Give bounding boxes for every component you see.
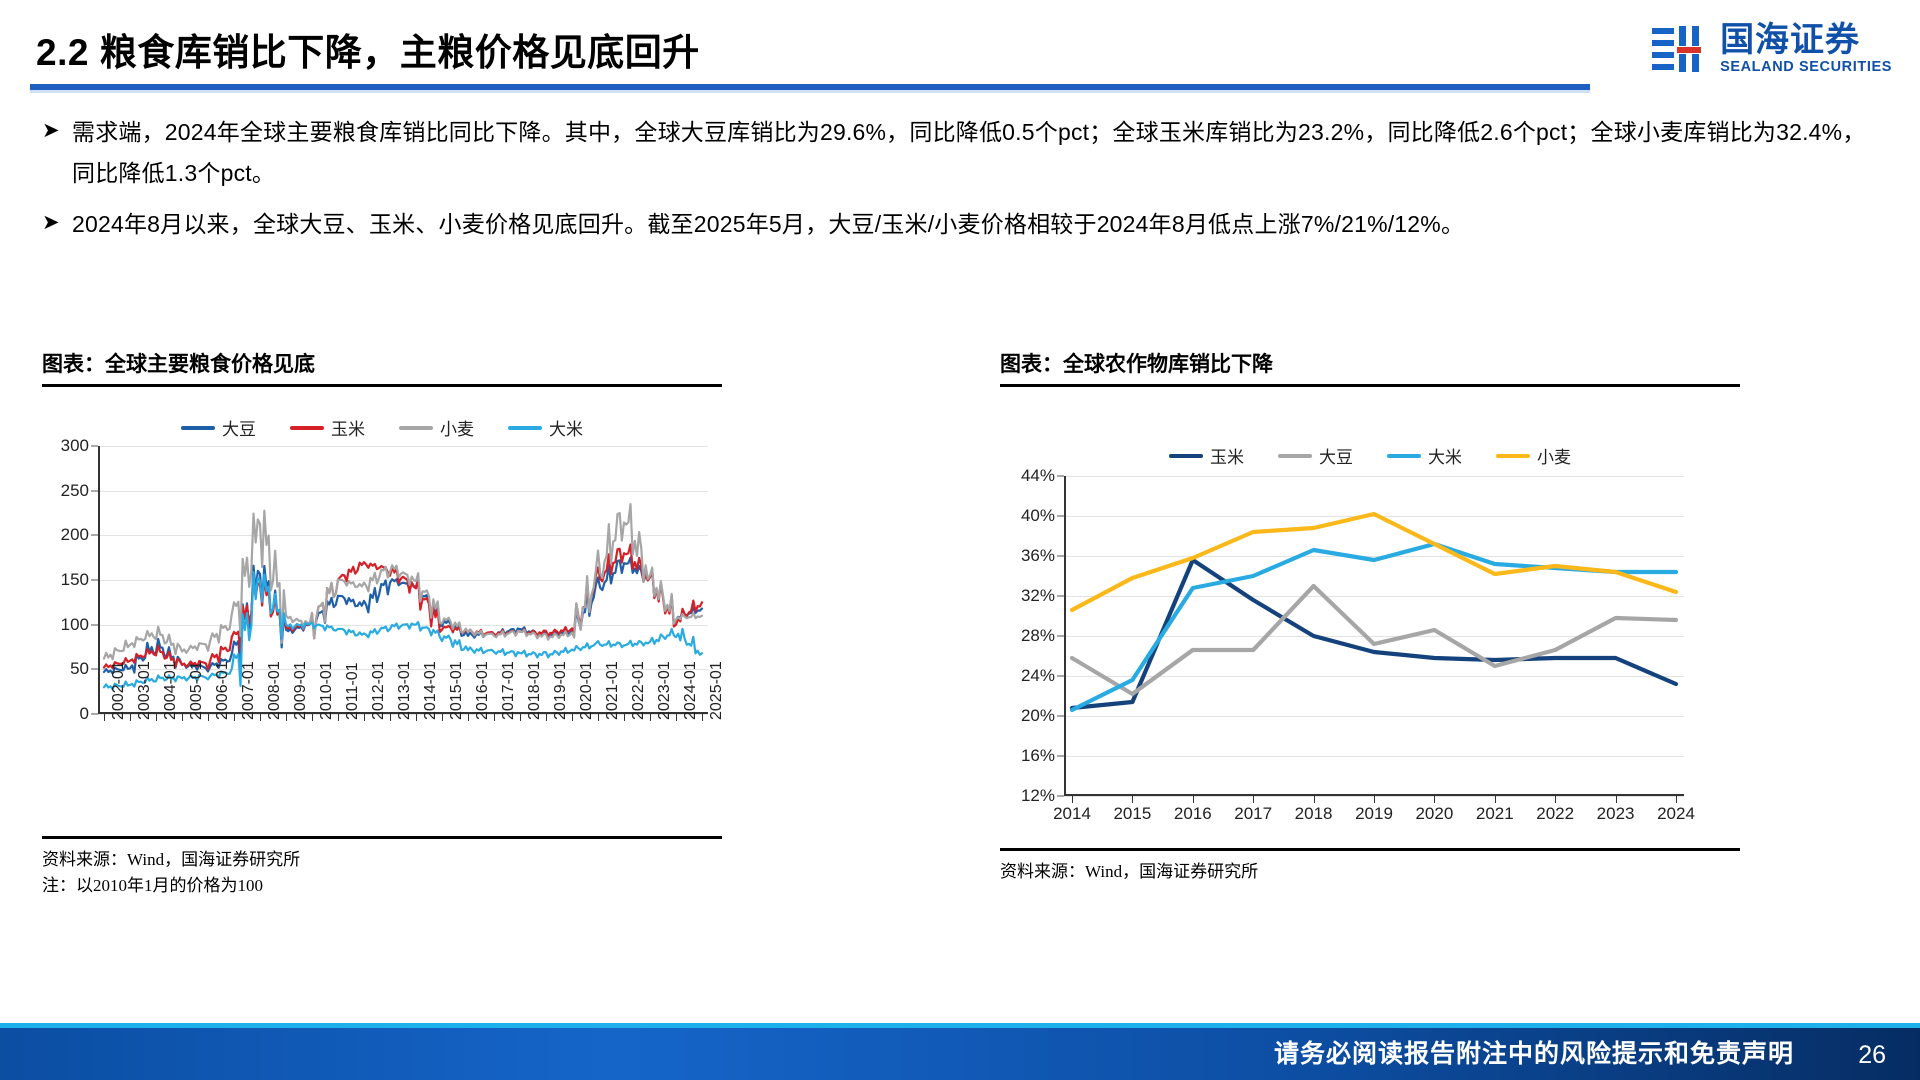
x-axis-tick-label: 2009-01 — [292, 661, 310, 720]
x-axis-tick-label: 2010-01 — [318, 661, 336, 720]
chart-series-layer — [1064, 476, 1684, 796]
x-axis-tick-label: 2012-01 — [370, 661, 388, 720]
legend-swatch-rice — [508, 426, 542, 430]
y-axis-tick-mark — [91, 624, 98, 625]
x-axis-tick-label: 2025-01 — [708, 661, 726, 720]
bullet-item: ➤ 2024年8月以来，全球大豆、玉米、小麦价格见底回升。截至2025年5月，大… — [42, 204, 1882, 245]
chart-panel-grain-prices: 图表：全球主要粮食价格见底 大豆 玉米 小麦 大米 05010015020025… — [42, 348, 722, 898]
bullet-arrow-icon: ➤ — [42, 204, 72, 242]
x-axis-tick-label: 2002-01 — [110, 661, 128, 720]
y-axis — [1064, 476, 1066, 796]
x-axis-tick-label: 2023-01 — [656, 661, 674, 720]
y-axis-tick-mark — [1057, 596, 1064, 597]
legend-label-rice: 大米 — [1428, 443, 1462, 468]
legend-swatch-wheat — [399, 426, 433, 430]
legend-swatch-corn — [1169, 454, 1203, 458]
series-line — [104, 558, 702, 674]
x-axis-tick-label: 2022-01 — [630, 661, 648, 720]
legend-swatch-soybean — [181, 426, 215, 430]
panel-caption: 图表：全球农作物库销比下降 — [1000, 348, 1740, 384]
x-axis-tick-label: 2014 — [1053, 804, 1091, 824]
x-axis-tick-label: 2019-01 — [552, 661, 570, 720]
x-axis-tick-label: 2016-01 — [474, 661, 492, 720]
x-axis-tick-label: 2023 — [1597, 804, 1635, 824]
bullet-text: 2024年8月以来，全球大豆、玉米、小麦价格见底回升。截至2025年5月，大豆/… — [72, 204, 1882, 245]
panel-caption-divider — [42, 384, 722, 387]
y-axis-tick-mark — [91, 714, 98, 715]
legend-swatch-corn — [290, 426, 324, 430]
x-axis-tick-label: 2021 — [1476, 804, 1514, 824]
bullet-list: ➤ 需求端，2024年全球主要粮食库销比同比下降。其中，全球大豆库销比为29.6… — [42, 112, 1882, 255]
x-axis-tick-label: 2008-01 — [266, 661, 284, 720]
y-axis-tick-mark — [1057, 636, 1064, 637]
legend-item-rice: 大米 — [1387, 443, 1462, 468]
y-axis-tick-label: 16% — [1021, 746, 1055, 766]
y-axis-tick-label: 40% — [1021, 506, 1055, 526]
x-axis-tick-label: 2006-01 — [214, 661, 232, 720]
legend-item-corn: 玉米 — [290, 415, 365, 440]
legend-item-soybean: 大豆 — [1278, 443, 1353, 468]
panel-source: 资料来源：Wind，国海证券研究所 — [1000, 859, 1740, 885]
legend-label-wheat: 小麦 — [440, 415, 474, 440]
y-axis-tick-mark — [1057, 756, 1064, 757]
bullet-arrow-icon: ➤ — [42, 112, 72, 150]
x-axis-tick-label: 2020-01 — [578, 661, 596, 720]
chart-legend: 大豆 玉米 小麦 大米 — [42, 415, 722, 440]
y-axis-tick-mark — [91, 535, 98, 536]
logo-text-chinese: 国海证券 — [1720, 23, 1892, 59]
x-axis-tick-label: 2020 — [1415, 804, 1453, 824]
series-line — [104, 544, 702, 669]
chart-legend: 玉米 大豆 大米 小麦 — [1000, 443, 1740, 468]
x-axis-tick-label: 2024-01 — [682, 661, 700, 720]
legend-label-soybean: 大豆 — [222, 415, 256, 440]
y-axis-tick-mark — [91, 446, 98, 447]
x-axis-tick-label: 2019 — [1355, 804, 1393, 824]
legend-label-corn: 玉米 — [331, 415, 365, 440]
y-axis-tick-label: 150 — [61, 570, 89, 590]
y-axis-tick-mark — [1057, 556, 1064, 557]
y-axis-tick-label: 24% — [1021, 666, 1055, 686]
y-axis-tick-mark — [1057, 476, 1064, 477]
y-axis-tick-label: 20% — [1021, 706, 1055, 726]
footer-disclaimer: 请务必阅读报告附注中的风险提示和免责声明 — [1274, 1034, 1794, 1070]
sealand-logo-icon — [1648, 18, 1710, 80]
legend-item-corn: 玉米 — [1169, 443, 1244, 468]
x-axis-tick-label: 2016 — [1174, 804, 1212, 824]
y-axis-tick-label: 28% — [1021, 626, 1055, 646]
x-axis-labels-stock-to-use: 2014201520162017201820192020202120222023… — [1064, 796, 1684, 830]
y-axis-tick-label: 32% — [1021, 586, 1055, 606]
panel-bottom-divider — [1000, 848, 1740, 851]
y-axis-tick-label: 12% — [1021, 786, 1055, 806]
y-axis-tick-label: 200 — [61, 525, 89, 545]
x-axis-tick-label: 2005-01 — [188, 661, 206, 720]
y-axis-tick-mark — [91, 490, 98, 491]
y-axis-tick-label: 100 — [61, 615, 89, 635]
series-line — [1072, 586, 1676, 694]
legend-label-wheat: 小麦 — [1537, 443, 1571, 468]
y-axis-tick-label: 36% — [1021, 546, 1055, 566]
logo-text-english: SEALAND SECURITIES — [1720, 59, 1892, 75]
x-axis-tick-label: 2017 — [1234, 804, 1272, 824]
y-axis-tick-label: 44% — [1021, 466, 1055, 486]
x-axis-tick-label: 2015-01 — [448, 661, 466, 720]
panel-source: 资料来源：Wind，国海证券研究所 — [42, 847, 722, 873]
legend-swatch-rice — [1387, 454, 1421, 458]
y-axis-tick-mark — [91, 669, 98, 670]
legend-label-soybean: 大豆 — [1319, 443, 1353, 468]
legend-label-rice: 大米 — [549, 415, 583, 440]
x-axis-tick-label: 2018-01 — [526, 661, 544, 720]
legend-swatch-soybean — [1278, 454, 1312, 458]
x-axis-tick-label: 2013-01 — [396, 661, 414, 720]
x-axis-tick-label: 2017-01 — [500, 661, 518, 720]
legend-item-rice: 大米 — [508, 415, 583, 440]
y-axis-tick-mark — [1057, 796, 1064, 797]
bullet-text: 需求端，2024年全球主要粮食库销比同比下降。其中，全球大豆库销比为29.6%，… — [72, 112, 1882, 194]
y-axis-tick-label: 0 — [80, 704, 89, 724]
legend-swatch-wheat — [1496, 454, 1530, 458]
legend-label-corn: 玉米 — [1210, 443, 1244, 468]
x-axis-tick-label: 2024 — [1657, 804, 1695, 824]
bullet-item: ➤ 需求端，2024年全球主要粮食库销比同比下降。其中，全球大豆库销比为29.6… — [42, 112, 1882, 194]
page-title: 2.2 粮食库销比下降，主粮价格见底回升 — [36, 22, 700, 76]
y-axis-tick-mark — [91, 580, 98, 581]
x-axis-labels-grain-prices: 2002-012003-012004-012005-012006-012007-… — [98, 714, 708, 834]
title-divider-secondary — [30, 90, 1590, 93]
x-axis-tick-label: 2007-01 — [240, 661, 258, 720]
panel-note: 注：以2010年1月的价格为100 — [42, 873, 722, 899]
chart-panel-stock-to-use: 图表：全球农作物库销比下降 玉米 大豆 大米 小麦 12%16%20%24%28… — [1000, 348, 1740, 885]
panel-bottom-divider — [42, 836, 722, 839]
y-axis-tick-label: 50 — [70, 659, 89, 679]
y-axis-tick-label: 300 — [61, 436, 89, 456]
y-axis-tick-label: 250 — [61, 481, 89, 501]
y-axis — [98, 446, 100, 714]
x-axis-tick-label: 2004-01 — [162, 661, 180, 720]
legend-item-soybean: 大豆 — [181, 415, 256, 440]
x-axis-tick-label: 2015 — [1113, 804, 1151, 824]
x-axis-tick-label: 2021-01 — [604, 661, 622, 720]
page-number: 26 — [1858, 1041, 1886, 1070]
legend-item-wheat: 小麦 — [1496, 443, 1571, 468]
company-logo: 国海证券 SEALAND SECURITIES — [1648, 18, 1892, 80]
y-axis-tick-mark — [1057, 516, 1064, 517]
x-axis-tick-label: 2018 — [1295, 804, 1333, 824]
legend-item-wheat: 小麦 — [399, 415, 474, 440]
x-axis-tick-label: 2022 — [1536, 804, 1574, 824]
x-axis-tick-label: 2003-01 — [136, 661, 154, 720]
line-chart-stock-to-use: 12%16%20%24%28%32%36%40%44% — [1064, 476, 1684, 796]
panel-caption: 图表：全球主要粮食价格见底 — [42, 348, 722, 384]
y-axis-tick-mark — [1057, 676, 1064, 677]
x-axis-tick-label: 2014-01 — [422, 661, 440, 720]
x-axis-tick-label: 2011-01 — [344, 662, 362, 720]
y-axis-tick-mark — [1057, 716, 1064, 717]
panel-caption-divider — [1000, 384, 1740, 387]
